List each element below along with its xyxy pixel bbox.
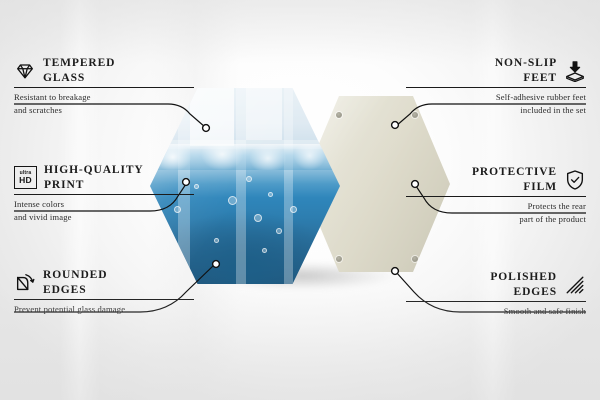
ultra-hd-icon: ultra HD <box>14 166 37 189</box>
feature-header: ROUNDED EDGES <box>14 268 194 297</box>
feature-high-quality-print[interactable]: ultra HD HIGH-QUALITY PRINT Intense colo… <box>14 163 194 223</box>
feature-description: Protects the rear part of the product <box>406 197 586 225</box>
ultra-hd-icon-bottom: HD <box>19 176 32 185</box>
feature-header: PROTECTIVE FILM <box>406 165 586 194</box>
diamond-icon <box>14 60 36 82</box>
feature-title-line2: FILM <box>472 180 557 195</box>
feature-desc-line1: Smooth and safe finish <box>406 305 586 317</box>
feature-header: POLISHED EDGES <box>406 270 586 299</box>
feature-header: NON-SLIP FEET <box>406 56 586 85</box>
feature-description: Self-adhesive rubber feet included in th… <box>406 88 586 116</box>
shield-check-icon <box>564 169 586 191</box>
rounded-corner-icon <box>14 272 36 294</box>
feature-desc-line1: Protects the rear <box>406 200 586 212</box>
feature-desc-line1: Resistant to breakage <box>14 91 194 103</box>
feature-title-line1: POLISHED <box>490 270 557 285</box>
feature-title-line1: HIGH-QUALITY <box>44 163 144 178</box>
feature-desc-line1: Prevent potential glass damage <box>14 303 194 315</box>
feature-title-line1: NON-SLIP <box>495 56 557 71</box>
feature-desc-line1: Self-adhesive rubber feet <box>406 91 586 103</box>
feature-title-line2: EDGES <box>43 283 107 298</box>
mounting-hole <box>336 112 342 118</box>
mounting-hole <box>412 256 418 262</box>
feature-header: TEMPERED GLASS <box>14 56 194 85</box>
feature-title-line1: ROUNDED <box>43 268 107 283</box>
feature-title-line2: EDGES <box>490 285 557 300</box>
feature-desc-line2: included in the set <box>406 104 586 116</box>
feature-description: Prevent potential glass damage <box>14 300 194 315</box>
feature-title: TEMPERED GLASS <box>43 56 115 85</box>
feature-description: Smooth and safe finish <box>406 302 586 317</box>
hatched-triangle-icon <box>564 274 586 296</box>
product-image-group <box>150 88 450 298</box>
feature-header: ultra HD HIGH-QUALITY PRINT <box>14 163 194 192</box>
feature-title-line2: FEET <box>495 71 557 86</box>
feature-desc-line2: and vivid image <box>14 211 194 223</box>
feature-desc-line2: and scratches <box>14 104 194 116</box>
feature-title-line2: GLASS <box>43 71 115 86</box>
feature-title-line1: TEMPERED <box>43 56 115 71</box>
feature-non-slip-feet[interactable]: NON-SLIP FEET Self-adhesive rubber feet … <box>406 56 586 116</box>
feature-tempered-glass[interactable]: TEMPERED GLASS Resistant to breakage and… <box>14 56 194 116</box>
feature-title: POLISHED EDGES <box>490 270 557 299</box>
feature-desc-line1: Intense colors <box>14 198 194 210</box>
feature-title: ROUNDED EDGES <box>43 268 107 297</box>
feature-description: Intense colors and vivid image <box>14 195 194 223</box>
feature-title: NON-SLIP FEET <box>495 56 557 85</box>
feature-protective-film[interactable]: PROTECTIVE FILM Protects the rear part o… <box>406 165 586 225</box>
feature-desc-line2: part of the product <box>406 213 586 225</box>
press-down-pad-icon <box>564 60 586 82</box>
feature-title: PROTECTIVE FILM <box>472 165 557 194</box>
feature-description: Resistant to breakage and scratches <box>14 88 194 116</box>
infographic-canvas: TEMPERED GLASS Resistant to breakage and… <box>0 0 600 400</box>
feature-title: HIGH-QUALITY PRINT <box>44 163 144 192</box>
mounting-hole <box>336 256 342 262</box>
feature-polished-edges[interactable]: POLISHED EDGES Smooth and safe finish <box>406 270 586 318</box>
feature-title-line1: PROTECTIVE <box>472 165 557 180</box>
feature-title-line2: PRINT <box>44 178 144 193</box>
feature-rounded-edges[interactable]: ROUNDED EDGES Prevent potential glass da… <box>14 268 194 316</box>
